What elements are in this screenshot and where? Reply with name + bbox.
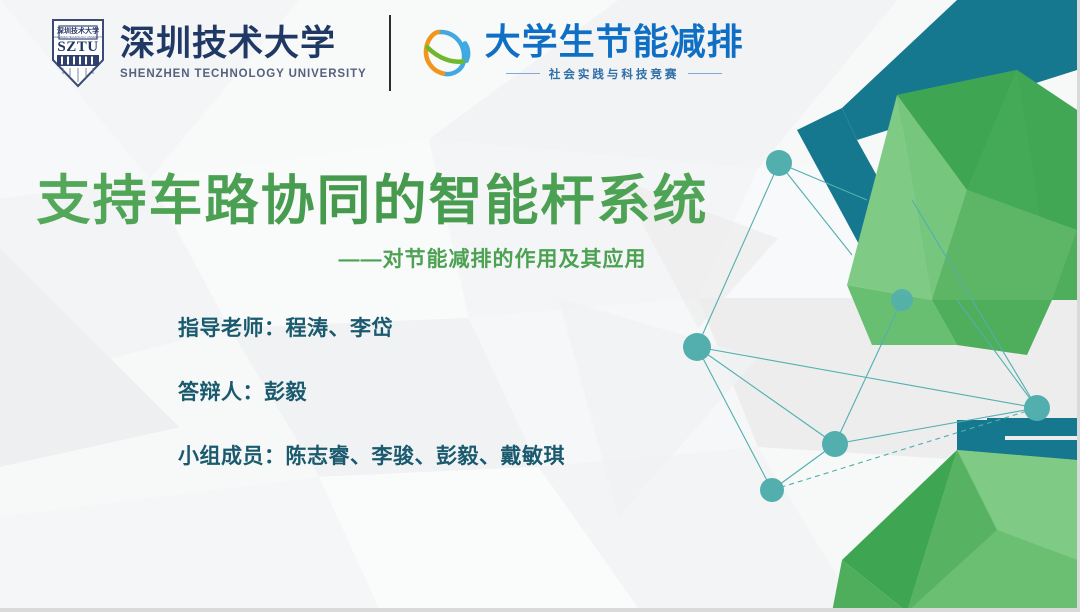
svg-text:SZTU: SZTU <box>57 39 98 55</box>
university-names: 深圳技术大学 SHENZHEN TECHNOLOGY UNIVERSITY <box>120 25 367 80</box>
university-name-cn: 深圳技术大学 <box>120 25 367 63</box>
title-block: 支持车路协同的智能杆系统 ——对节能减排的作用及其应用 <box>0 172 745 273</box>
leaf-swoosh-logo <box>417 25 473 81</box>
slide-header: 深圳技术大学 SHENZHEN TECHNOLOGY UNIVERSITY SZ… <box>0 0 744 105</box>
svg-text:深圳技术大学: 深圳技术大学 <box>57 26 99 35</box>
header-divider <box>389 15 391 91</box>
university-name-en: SHENZHEN TECHNOLOGY UNIVERSITY <box>120 68 367 80</box>
credit-advisors: 指导老师：程涛、李岱 <box>178 312 565 342</box>
competition-names: 大学生节能减排 社会实践与科技竞赛 <box>485 23 744 82</box>
page-subtitle: ——对节能减排的作用及其应用 <box>0 243 745 273</box>
presentation-slide: 深圳技术大学 SHENZHEN TECHNOLOGY UNIVERSITY SZ… <box>0 0 1080 612</box>
credits-block: 指导老师：程涛、李岱 答辩人：彭毅 小组成员：陈志睿、李骏、彭毅、戴敏琪 <box>178 312 565 470</box>
sztu-shield-logo: 深圳技术大学 SHENZHEN TECHNOLOGY UNIVERSITY SZ… <box>50 18 106 88</box>
subtitle-rule-right <box>688 73 722 74</box>
competition-subtitle-row: 社会实践与科技竞赛 <box>485 66 744 82</box>
subtitle-rule-left <box>506 73 540 74</box>
competition-subtitle-cn: 社会实践与科技竞赛 <box>549 66 680 82</box>
credit-team-members: 小组成员：陈志睿、李骏、彭毅、戴敏琪 <box>178 440 565 470</box>
page-title: 支持车路协同的智能杆系统 <box>0 172 745 231</box>
credit-presenter: 答辩人：彭毅 <box>178 376 565 406</box>
competition-name-cn: 大学生节能减排 <box>485 23 744 61</box>
